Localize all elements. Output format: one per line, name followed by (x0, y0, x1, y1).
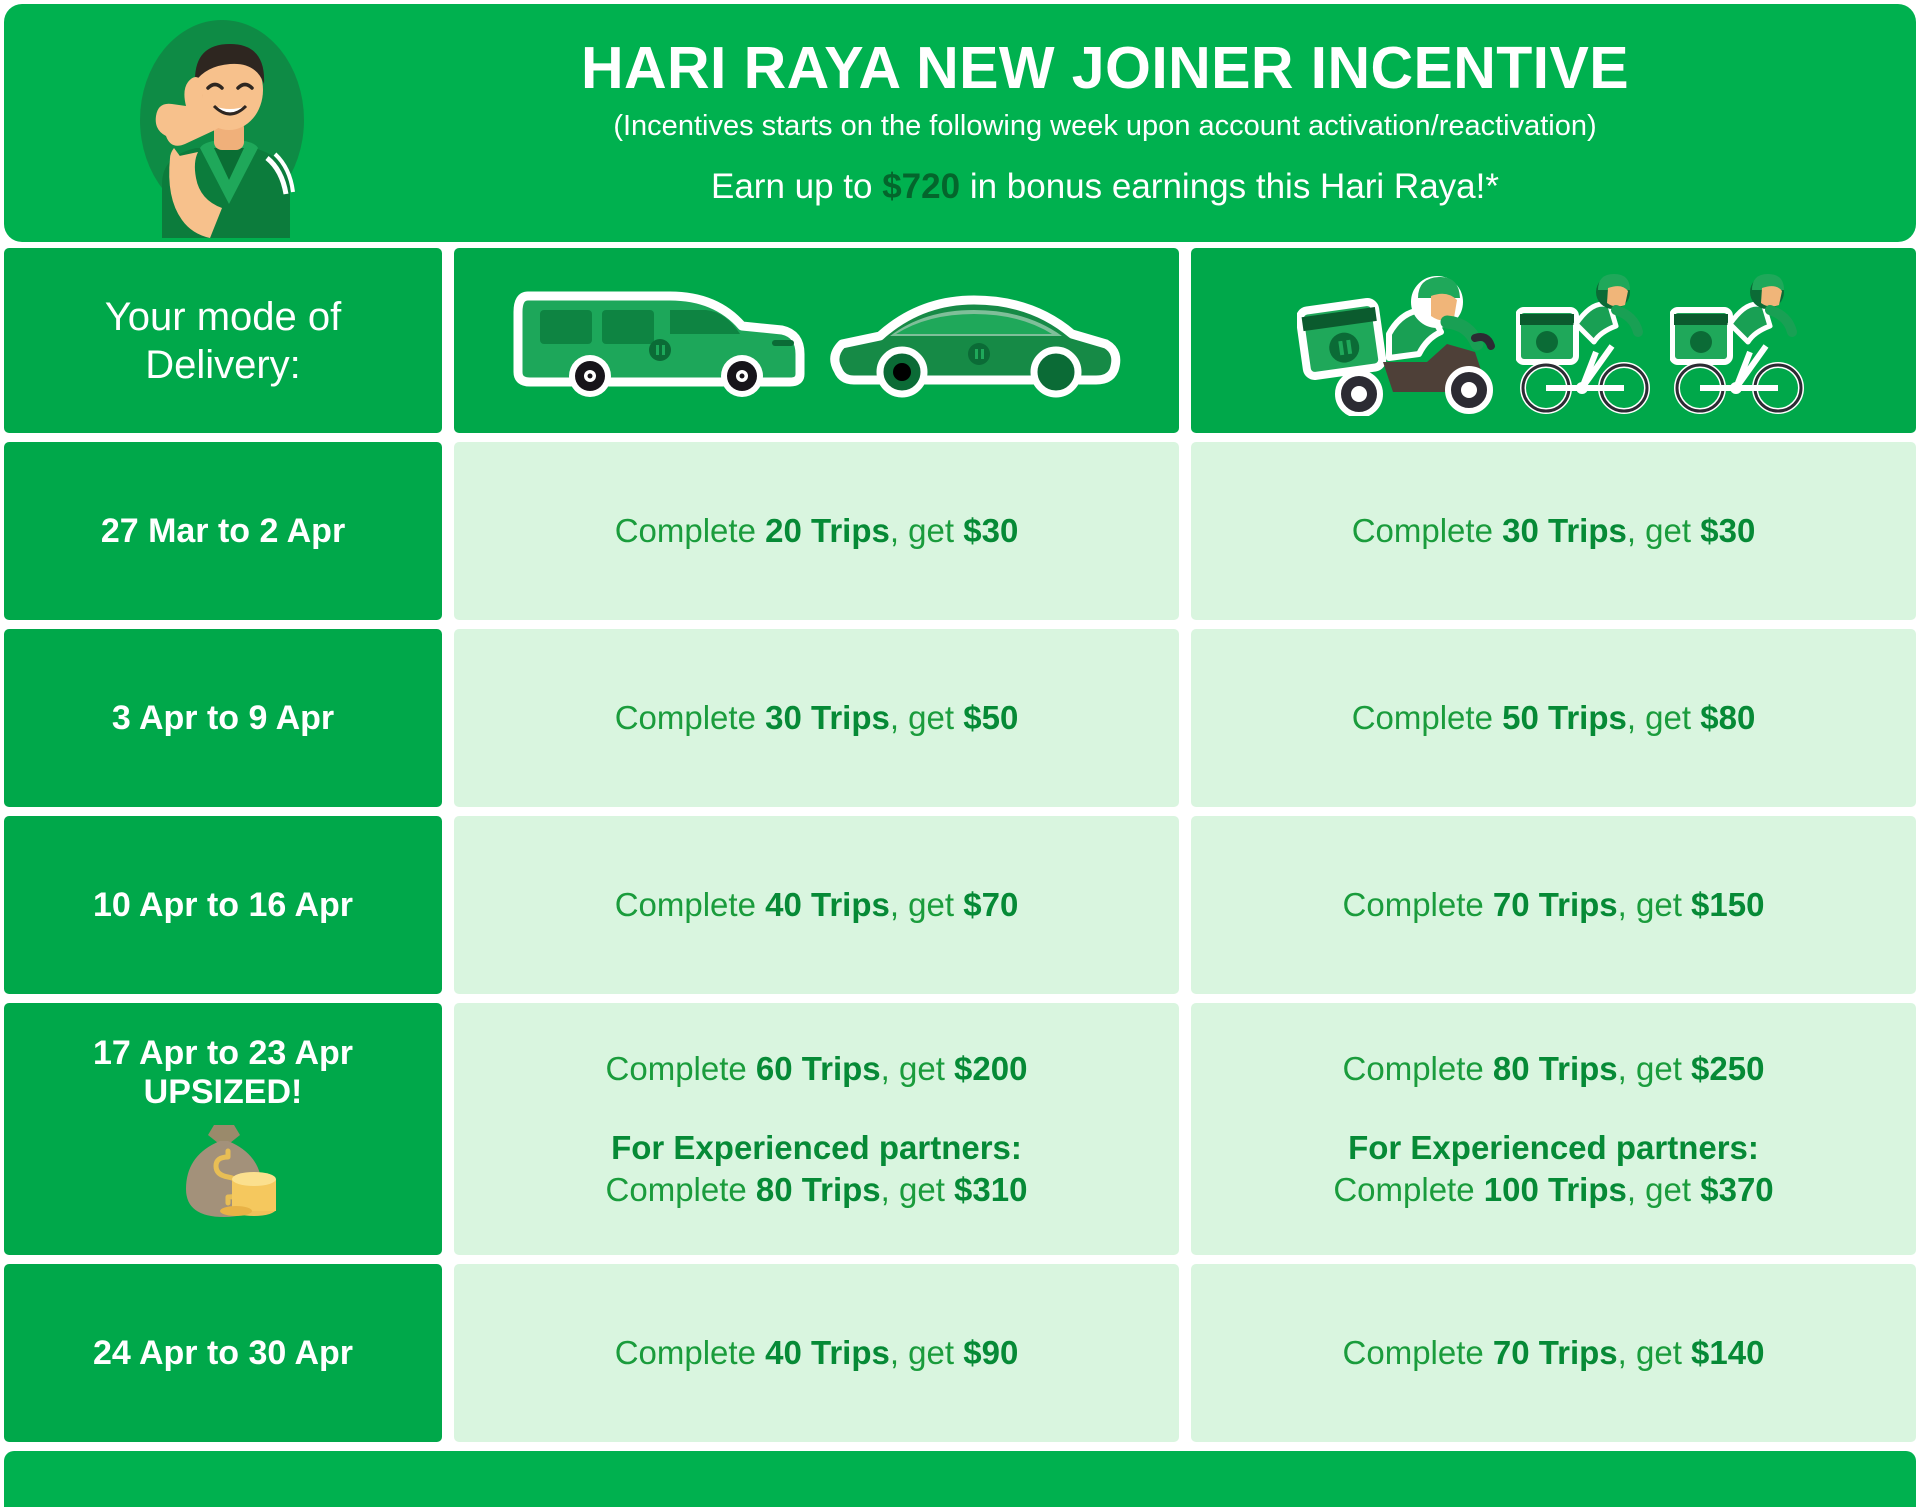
line-amount: $50 (963, 699, 1018, 736)
line-mid: , get (1618, 1050, 1691, 1087)
header-subtitle: (Incentives starts on the following week… (364, 108, 1846, 144)
line-mid: , get (1618, 886, 1691, 923)
line-mid: , get (890, 512, 963, 549)
line-trips: 50 Trips (1502, 699, 1627, 736)
line-prefix: Complete (615, 886, 765, 923)
header-tagline: Earn up to $720 in bonus earnings this H… (364, 167, 1846, 207)
mode-label-line-2: Delivery: (105, 341, 341, 389)
row-two-wheel-cell: Complete 70 Trips, get $140 (1191, 1264, 1916, 1442)
header-text-block: HARI RAYA NEW JOINER INCENTIVE (Incentiv… (354, 39, 1916, 206)
date-range-label: 24 Apr to 30 Apr (93, 1334, 353, 1372)
line-prefix: Complete (1352, 512, 1502, 549)
date-range-label: 27 Mar to 2 Apr (101, 512, 345, 550)
table-row: 17 Apr to 23 Apr UPSIZED! (4, 1003, 1916, 1255)
incentive-line: Complete 80 Trips, get $250 (1343, 1048, 1765, 1090)
row-four-wheel-cell: Complete 60 Trips, get $200 For Experien… (454, 1003, 1179, 1255)
line-amount: $250 (1691, 1050, 1764, 1087)
line-prefix: Complete (606, 1171, 756, 1208)
incentive-line-experienced: Complete 100 Trips, get $370 (1333, 1169, 1773, 1211)
money-bag-icon (168, 1123, 278, 1224)
line-trips: 70 Trips (1493, 1334, 1618, 1371)
row-four-wheel-cell: Complete 40 Trips, get $70 (454, 816, 1179, 994)
incentive-line: Complete 30 Trips, get $50 (615, 697, 1019, 739)
line-mid: , get (1627, 512, 1700, 549)
experienced-partners-heading: For Experienced partners: (611, 1127, 1022, 1169)
row-four-wheel-cell: Complete 30 Trips, get $50 (454, 629, 1179, 807)
line-amount: $140 (1691, 1334, 1764, 1371)
poster-header: HARI RAYA NEW JOINER INCENTIVE (Incentiv… (4, 4, 1916, 242)
row-date-cell: 24 Apr to 30 Apr (4, 1264, 442, 1442)
line-amount: $30 (1700, 512, 1755, 549)
row-two-wheel-cell: Complete 80 Trips, get $250 For Experien… (1191, 1003, 1916, 1255)
incentive-line-experienced: Complete 80 Trips, get $310 (606, 1169, 1028, 1211)
line-mid: , get (1618, 1334, 1691, 1371)
van-icon (510, 278, 810, 403)
line-amount: $200 (954, 1050, 1027, 1087)
line-amount: $80 (1700, 699, 1755, 736)
line-trips: 80 Trips (1493, 1050, 1618, 1087)
row-four-wheel-cell: Complete 40 Trips, get $90 (454, 1264, 1179, 1442)
table-row: 3 Apr to 9 Apr Complete 30 Trips, get $5… (4, 629, 1916, 807)
line-amount: $370 (1700, 1171, 1773, 1208)
line-prefix: Complete (1352, 699, 1502, 736)
incentive-line: Complete 60 Trips, get $200 (606, 1048, 1028, 1090)
mode-of-delivery-label: Your mode of Delivery: (4, 248, 442, 433)
row-two-wheel-cell: Complete 70 Trips, get $150 (1191, 816, 1916, 994)
cyclist-icon (1516, 266, 1656, 416)
row-two-wheel-cell: Complete 50 Trips, get $80 (1191, 629, 1916, 807)
line-prefix: Complete (606, 1050, 756, 1087)
line-prefix: Complete (1343, 1050, 1493, 1087)
tagline-pre: Earn up to (711, 167, 882, 206)
four-wheel-column-header (454, 248, 1179, 433)
mode-label-line-1: Your mode of (105, 293, 341, 341)
line-prefix: Complete (615, 1334, 765, 1371)
date-range-label: 17 Apr to 23 Apr (93, 1034, 353, 1072)
line-mid: , get (890, 1334, 963, 1371)
motorbike-rider-icon (1297, 266, 1502, 416)
row-four-wheel-cell: Complete 20 Trips, get $30 (454, 442, 1179, 620)
row-date-cell: 27 Mar to 2 Apr (4, 442, 442, 620)
line-amount: $70 (963, 886, 1018, 923)
line-amount: $30 (963, 512, 1018, 549)
line-mid: , get (1627, 1171, 1700, 1208)
incentive-poster: HARI RAYA NEW JOINER INCENTIVE (Incentiv… (0, 0, 1920, 1507)
line-mid: , get (890, 886, 963, 923)
line-trips: 30 Trips (765, 699, 890, 736)
tagline-post: in bonus earnings this Hari Raya!* (960, 167, 1499, 206)
row-date-cell: 3 Apr to 9 Apr (4, 629, 442, 807)
line-trips: 30 Trips (1502, 512, 1627, 549)
row-date-cell: 17 Apr to 23 Apr UPSIZED! (4, 1003, 442, 1255)
line-mid: , get (890, 699, 963, 736)
line-trips: 20 Trips (765, 512, 890, 549)
line-prefix: Complete (615, 512, 765, 549)
row-two-wheel-cell: Complete 30 Trips, get $30 (1191, 442, 1916, 620)
two-wheel-column-header (1191, 248, 1916, 433)
table-row: 27 Mar to 2 Apr Complete 20 Trips, get $… (4, 442, 1916, 620)
line-prefix: Complete (1343, 1334, 1493, 1371)
incentive-table: Your mode of Delivery: (0, 248, 1920, 1442)
line-trips: 100 Trips (1484, 1171, 1627, 1208)
poster-footer: *T&C Apply. (4, 1451, 1916, 1507)
experienced-partners-heading: For Experienced partners: (1348, 1127, 1759, 1169)
line-trips: 80 Trips (756, 1171, 881, 1208)
incentive-line: Complete 40 Trips, get $90 (615, 1332, 1019, 1374)
incentive-line: Complete 20 Trips, get $30 (615, 510, 1019, 552)
line-amount: $310 (954, 1171, 1027, 1208)
line-trips: 40 Trips (765, 886, 890, 923)
line-mid: , get (881, 1050, 954, 1087)
thumbs-up-delivery-partner-icon (104, 8, 354, 238)
line-trips: 40 Trips (765, 1334, 890, 1371)
line-mid: , get (881, 1171, 954, 1208)
table-row: 24 Apr to 30 Apr Complete 40 Trips, get … (4, 1264, 1916, 1442)
line-trips: 70 Trips (1493, 886, 1618, 923)
line-amount: $90 (963, 1334, 1018, 1371)
incentive-line: Complete 40 Trips, get $70 (615, 884, 1019, 926)
table-row: 10 Apr to 16 Apr Complete 40 Trips, get … (4, 816, 1916, 994)
incentive-line: Complete 50 Trips, get $80 (1352, 697, 1756, 739)
upsized-badge: UPSIZED! (144, 1073, 303, 1111)
incentive-line: Complete 70 Trips, get $140 (1343, 1332, 1765, 1374)
line-prefix: Complete (1343, 886, 1493, 923)
line-amount: $150 (1691, 886, 1764, 923)
table-header-row: Your mode of Delivery: (4, 248, 1916, 433)
incentive-line: Complete 30 Trips, get $30 (1352, 510, 1756, 552)
incentive-line: Complete 70 Trips, get $150 (1343, 884, 1765, 926)
date-range-label: 3 Apr to 9 Apr (112, 699, 334, 737)
car-icon (824, 278, 1124, 403)
page-title: HARI RAYA NEW JOINER INCENTIVE (364, 39, 1846, 98)
line-mid: , get (1627, 699, 1700, 736)
line-prefix: Complete (1333, 1171, 1483, 1208)
date-range-label: 10 Apr to 16 Apr (93, 886, 353, 924)
tagline-amount: $720 (882, 167, 960, 206)
line-trips: 60 Trips (756, 1050, 881, 1087)
row-date-cell: 10 Apr to 16 Apr (4, 816, 442, 994)
cyclist-icon (1670, 266, 1810, 416)
line-prefix: Complete (615, 699, 765, 736)
